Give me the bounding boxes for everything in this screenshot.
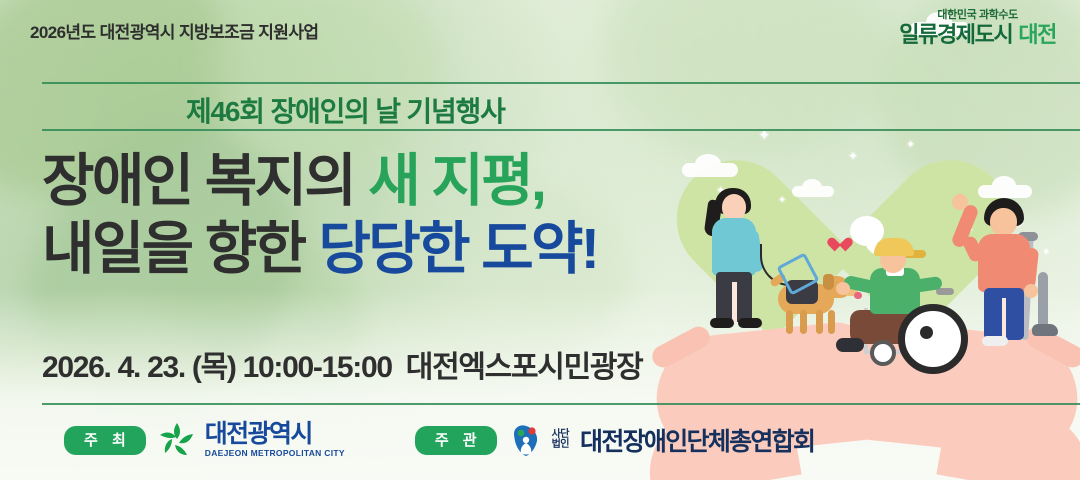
city-brand-logo: 대한민국 과학수도 일류경제도시대전	[899, 10, 1056, 46]
city-brand-tagline: 대한민국 과학수도	[899, 10, 1056, 21]
event-schedule: 2026. 4. 23. (목) 10:00-15:00	[42, 351, 392, 384]
city-brand-title: 일류경제도시대전	[899, 24, 1056, 46]
federation-name: 대전장애인단체총연합회	[580, 422, 814, 458]
federation-prefix-line2: 법인	[552, 439, 569, 450]
event-schedule-venue: 2026. 4. 23. (목) 10:00-15:00대전엑스포시민광장	[42, 342, 642, 386]
event-headline: 장애인 복지의새 지평, 내일을 향한당당한 도약!	[42, 152, 597, 278]
city-brand-accent-text: 대전	[1018, 22, 1056, 47]
federation-legal-prefix: 사단법인	[552, 430, 569, 451]
event-venue: 대전엑스포시민광장	[406, 351, 643, 384]
event-subtitle: 제46회 장애인의 날 기념행사	[186, 90, 505, 130]
city-brand-main-text: 일류경제도시	[899, 22, 1012, 47]
daejeon-city-logo: 대전광역시 DAEJEON METROPOLITAN CITY	[157, 420, 345, 460]
daejeon-city-name: 대전광역시 DAEJEON METROPOLITAN CITY	[205, 422, 345, 458]
sponsor-row: 주 최 대전광역시 DAEJEON METROPOLITAN CITY	[64, 420, 814, 460]
sparkle-icon: ✦	[906, 140, 915, 151]
cloud-icon	[682, 163, 738, 177]
headline-line-1: 장애인 복지의새 지평,	[42, 152, 597, 210]
divider-line-bottom	[42, 403, 1080, 405]
headline-line1-accent: 새 지평,	[368, 149, 544, 213]
federation-logo: 사단법인 대전장애인단체총연합회	[508, 422, 815, 458]
federation-prefix-line1: 사단	[552, 429, 569, 440]
disability-federation-figure-icon	[508, 422, 544, 458]
figure-man-with-crutch	[952, 208, 1080, 358]
daejeon-pinwheel-flower-icon	[157, 420, 197, 460]
sponsor-host: 주 최 대전광역시 DAEJEON METROPOLITAN CITY	[64, 420, 345, 460]
organizer-role-badge: 주 관	[415, 426, 497, 455]
event-banner: ✦ ✦ ✦ ✦ ✦ ✦ ✦ ✦	[0, 0, 1080, 480]
sparkle-icon: ✦	[848, 150, 858, 162]
figure-man-in-wheelchair	[832, 232, 972, 372]
daejeon-city-name-ko: 대전광역시	[205, 422, 345, 447]
prosthetic-leg-icon	[1038, 272, 1048, 328]
headline-line-2: 내일을 향한당당한 도약!	[42, 220, 597, 278]
cloud-icon	[978, 185, 1032, 198]
host-role-badge: 주 최	[64, 426, 146, 455]
illustration-artwork: ✦ ✦ ✦ ✦ ✦ ✦ ✦ ✦	[660, 0, 1080, 480]
sponsor-organizer: 주 관 사단법인 대전장애인단체총연합회	[415, 422, 815, 458]
program-caption: 2026년도 대전광역시 지방보조금 지원사업	[30, 18, 318, 43]
headline-line2-dark: 내일을 향한	[42, 217, 304, 281]
small-heart-icon	[832, 232, 848, 246]
divider-line-top	[42, 82, 1080, 84]
daejeon-city-name-en: DAEJEON METROPOLITAN CITY	[205, 449, 345, 458]
headline-line1-dark: 장애인 복지의	[42, 149, 354, 213]
headline-line2-accent: 당당한 도약!	[318, 217, 597, 281]
